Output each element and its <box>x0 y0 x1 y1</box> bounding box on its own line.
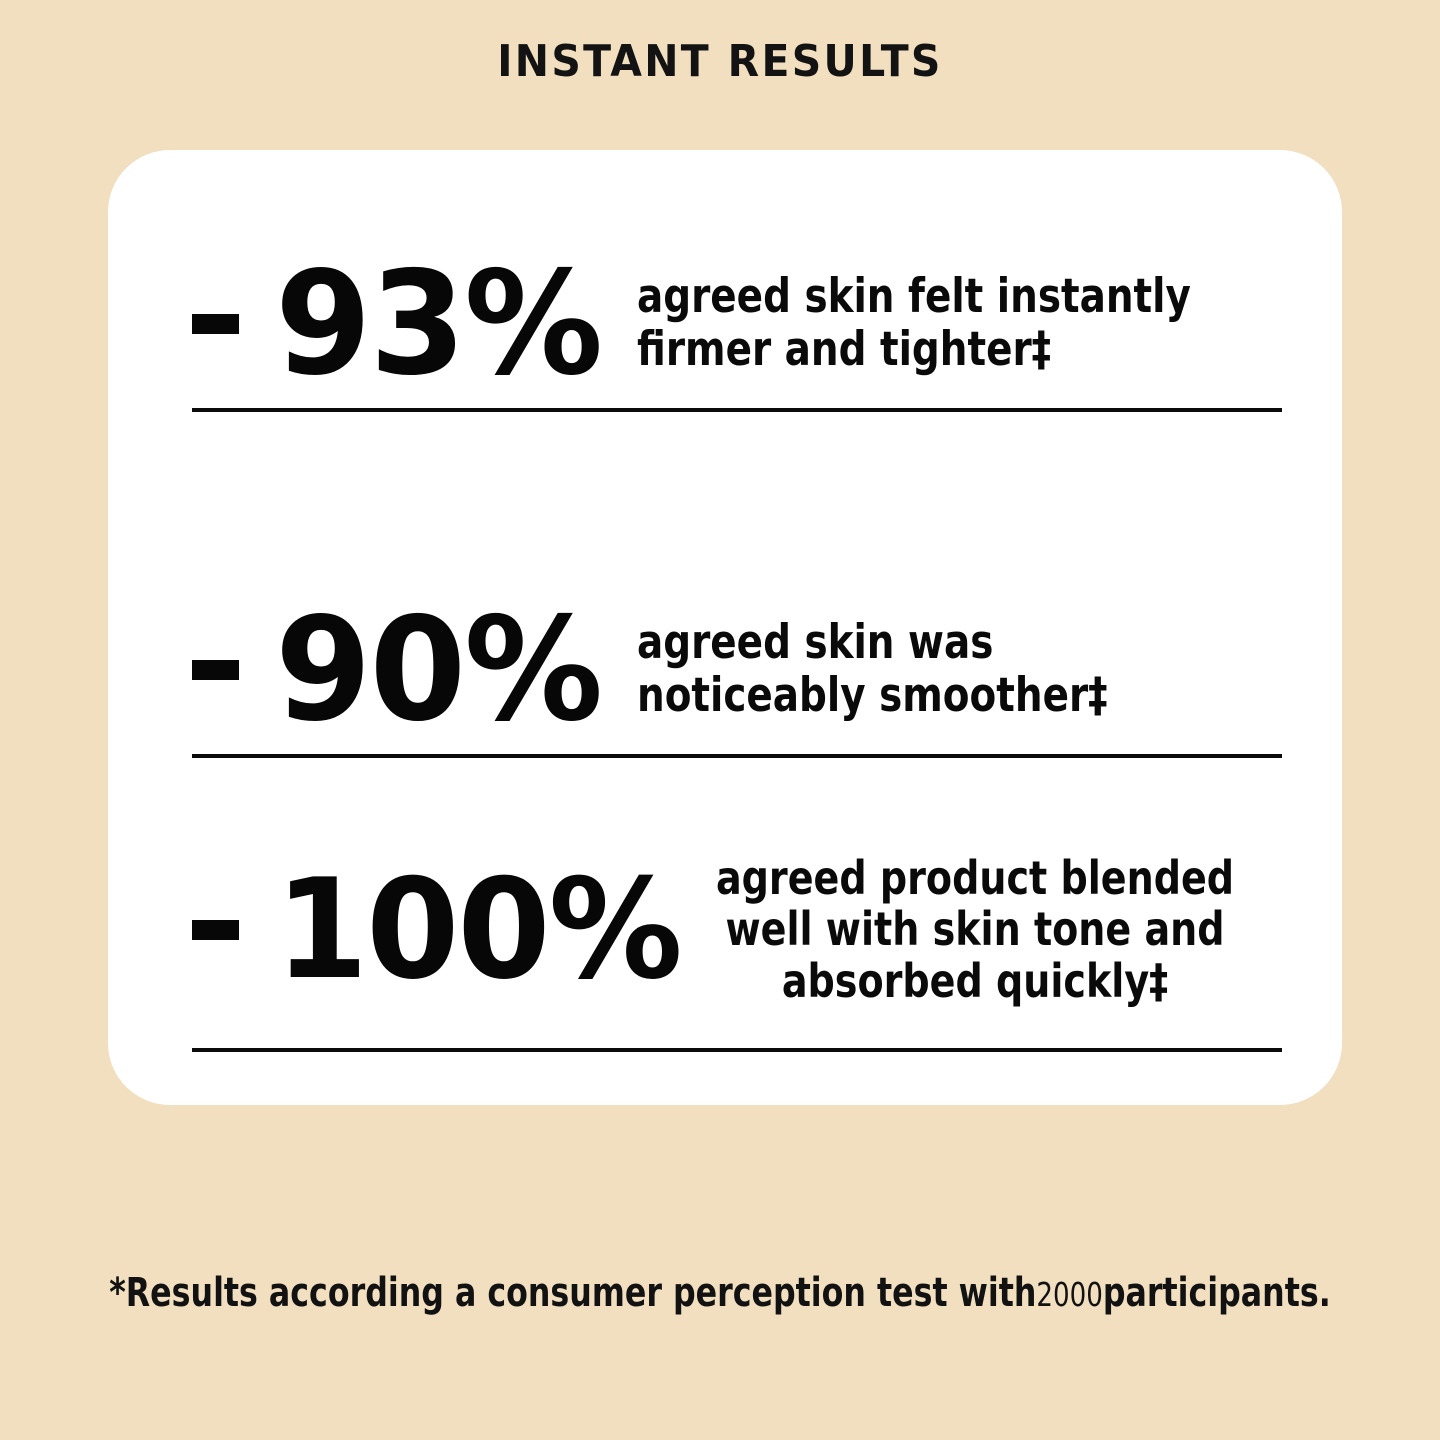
dash-marker <box>192 660 239 680</box>
results-card: 93% agreed skin felt instantly firmer an… <box>108 150 1342 1105</box>
stat-row: 93% agreed skin felt instantly firmer an… <box>108 244 1342 404</box>
dash-marker <box>192 314 239 334</box>
footnote-participant-count: 2000 <box>1036 1275 1102 1314</box>
dash-marker <box>192 920 239 940</box>
stat-description: agreed skin was noticeably smoother‡ <box>637 617 1238 722</box>
stat-row: 100% agreed product blended well with sk… <box>108 850 1342 1010</box>
footnote-suffix: participants. <box>1103 1270 1331 1316</box>
divider-rule <box>192 754 1282 758</box>
page-title: INSTANT RESULTS <box>50 36 1389 87</box>
stat-value: 93% <box>275 258 601 390</box>
stat-value: 100% <box>275 867 681 994</box>
stat-description: agreed skin felt instantly firmer and ti… <box>637 271 1238 376</box>
divider-rule <box>192 1048 1282 1052</box>
stat-description: agreed product blended well with skin to… <box>707 853 1243 1008</box>
stat-row: 90% agreed skin was noticeably smoother‡ <box>108 590 1342 750</box>
footnote: *Results according a consumer perception… <box>86 1270 1353 1316</box>
divider-rule <box>192 408 1282 412</box>
infographic-page: INSTANT RESULTS 93% agreed skin felt ins… <box>0 0 1440 1440</box>
stat-value: 90% <box>275 604 601 736</box>
footnote-prefix: *Results according a consumer perception… <box>109 1270 1036 1316</box>
